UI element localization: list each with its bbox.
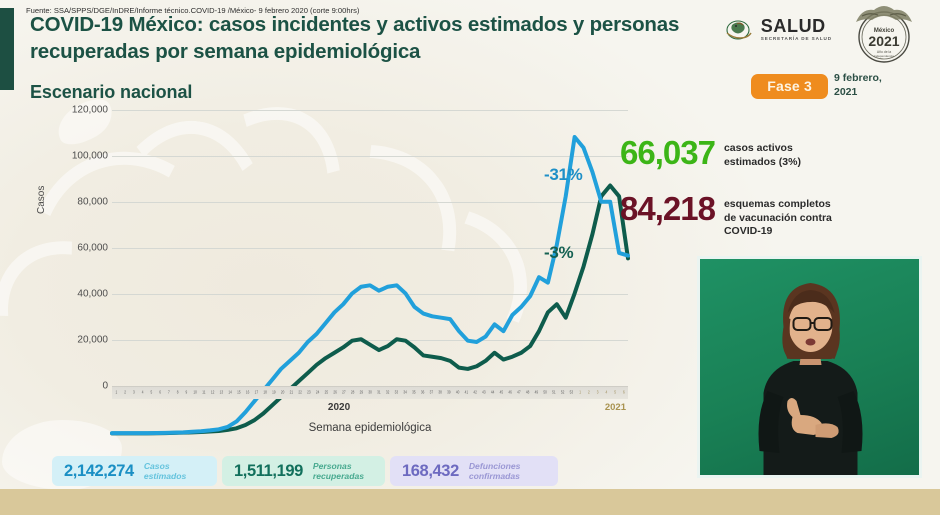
x-axis-tick-label: 26 bbox=[331, 391, 340, 396]
y-axis-tick-label: 100,000 bbox=[72, 151, 108, 162]
x-axis-tick-label: 23 bbox=[305, 391, 314, 396]
x-axis-tick-label: 8 bbox=[173, 391, 182, 396]
x-axis-tick-label: 12 bbox=[208, 391, 217, 396]
x-axis-tick-label: 50 bbox=[541, 391, 550, 396]
x-axis-tick-label: 6 bbox=[620, 391, 629, 396]
annotation-recuperadas: -3% bbox=[544, 243, 573, 263]
stat-vaccination: 84,218 esquemas completos de vacunación … bbox=[620, 194, 832, 239]
pill-defunciones-confirmadas: 168,432 Defunciones confirmadas bbox=[390, 456, 558, 486]
page-title: COVID-19 México: casos incidentes y acti… bbox=[30, 11, 690, 66]
x-axis-tick-label: 22 bbox=[296, 391, 305, 396]
pill-personas-recuperadas: 1,511,199 Personas recuperadas bbox=[222, 456, 385, 486]
x-axis-tick-label: 37 bbox=[427, 391, 436, 396]
x-axis-tick-label: 1 bbox=[112, 391, 121, 396]
pill-defunciones-value: 168,432 bbox=[402, 462, 459, 481]
x-axis-tick-label: 24 bbox=[313, 391, 322, 396]
report-date: 9 febrero, 2021 bbox=[834, 72, 922, 100]
x-axis-tick-label: 25 bbox=[322, 391, 331, 396]
phase-badge: Fase 3 bbox=[751, 74, 828, 99]
x-axis-tick-label: 18 bbox=[261, 391, 270, 396]
y-axis-tick-label: 60,000 bbox=[77, 243, 108, 254]
vaccination-value: 84,218 bbox=[620, 194, 715, 224]
svg-text:Independencia: Independencia bbox=[874, 54, 894, 58]
y-axis-tick-label: 20,000 bbox=[77, 335, 108, 346]
x-axis-tick-label: 28 bbox=[348, 391, 357, 396]
x-axis-tick-label: 46 bbox=[506, 391, 515, 396]
salud-logo-text: SALUD bbox=[761, 17, 832, 35]
x-axis-tick-label: 1 bbox=[576, 391, 585, 396]
x-axis-tick-label: 17 bbox=[252, 391, 261, 396]
x-axis-tick-label: 4 bbox=[138, 391, 147, 396]
x-axis-tick-label: 47 bbox=[515, 391, 524, 396]
source-bar bbox=[0, 489, 940, 515]
x-axis-tick-label: 48 bbox=[523, 391, 532, 396]
x-axis-tick-label: 38 bbox=[436, 391, 445, 396]
x-axis-tick-label: 5 bbox=[611, 391, 620, 396]
pill-casos-estimados: 2,142,274 Casos estimados bbox=[52, 456, 217, 486]
vaccination-label: esquemas completos de vacunación contra … bbox=[724, 194, 832, 239]
pill-casos-estimados-label: Casos estimados bbox=[144, 461, 187, 482]
mexico-2021-seal: México 2021 Año de la Independencia bbox=[848, 4, 920, 66]
x-axis-title: Semana epidemiológica bbox=[112, 422, 628, 434]
x-axis-tick-label: 6 bbox=[156, 391, 165, 396]
svg-text:2021: 2021 bbox=[868, 33, 899, 49]
active-cases-label: casos activos estimados (3%) bbox=[724, 138, 801, 169]
annotation-incidentes: -31% bbox=[544, 165, 583, 185]
x-axis-tick-label: 10 bbox=[191, 391, 200, 396]
x-axis-tick-label: 36 bbox=[418, 391, 427, 396]
sign-language-video-panel[interactable] bbox=[697, 256, 922, 478]
x-axis-tick-label: 32 bbox=[383, 391, 392, 396]
x-axis-tick-label: 42 bbox=[471, 391, 480, 396]
x-axis-tick-label: 4 bbox=[602, 391, 611, 396]
x-axis-tick-label: 31 bbox=[375, 391, 384, 396]
pill-defunciones-label: Defunciones confirmadas bbox=[469, 461, 521, 482]
stat-active-cases: 66,037 casos activos estimados (3%) bbox=[620, 138, 801, 169]
x-axis-tick-label: 30 bbox=[366, 391, 375, 396]
x-axis-tick-label: 53 bbox=[567, 391, 576, 396]
x-axis-tick-label: 41 bbox=[462, 391, 471, 396]
year-label-2021: 2021 bbox=[605, 402, 626, 413]
x-axis-tick-label: 35 bbox=[410, 391, 419, 396]
x-axis-tick-label: 11 bbox=[200, 391, 209, 396]
x-axis-tick-label: 13 bbox=[217, 391, 226, 396]
year-label-2020: 2020 bbox=[328, 402, 350, 413]
x-axis-tick-label: 9 bbox=[182, 391, 191, 396]
y-axis-tick-label: 40,000 bbox=[77, 289, 108, 300]
y-axis-tick-label: 120,000 bbox=[72, 105, 108, 116]
chart-container: Casos 120,000100,00080,00060,00040,00020… bbox=[28, 110, 628, 440]
x-axis-tick-label: 34 bbox=[401, 391, 410, 396]
active-cases-value: 66,037 bbox=[620, 138, 715, 168]
x-axis-year-row: 2020 2021 bbox=[112, 402, 628, 416]
x-axis-tick-label: 44 bbox=[488, 391, 497, 396]
page-subtitle: Escenario nacional bbox=[30, 82, 192, 103]
y-axis-tick-label: 80,000 bbox=[77, 197, 108, 208]
pill-casos-estimados-value: 2,142,274 bbox=[64, 462, 134, 481]
x-axis-tick-label: 49 bbox=[532, 391, 541, 396]
x-axis-tick-label: 29 bbox=[357, 391, 366, 396]
x-axis-tick-label: 52 bbox=[558, 391, 567, 396]
pill-personas-recuperadas-label: Personas recuperadas bbox=[313, 461, 364, 482]
x-axis-tick-label: 33 bbox=[392, 391, 401, 396]
x-axis-tick-label: 39 bbox=[445, 391, 454, 396]
interpreter-figure bbox=[697, 265, 922, 475]
x-axis-tick-label: 5 bbox=[147, 391, 156, 396]
salud-logo-subtext: SECRETARÍA DE SALUD bbox=[761, 37, 832, 42]
y-axis-tick-label: 0 bbox=[102, 381, 108, 392]
x-axis-tick-label: 7 bbox=[165, 391, 174, 396]
x-axis-tick-label: 51 bbox=[550, 391, 559, 396]
x-axis-tick-label: 16 bbox=[243, 391, 252, 396]
x-axis-tick-label: 45 bbox=[497, 391, 506, 396]
x-axis-tick-label: 2 bbox=[121, 391, 130, 396]
source-text: Fuente: SSA/SPPS/DGE/InDRE/Informe técni… bbox=[26, 6, 359, 15]
mexico-eagle-icon bbox=[724, 16, 754, 42]
x-axis-tick-label: 15 bbox=[235, 391, 244, 396]
salud-logo: SALUD SECRETARÍA DE SALUD bbox=[724, 16, 832, 42]
header-accent-bar bbox=[0, 8, 14, 90]
x-axis-tick-strip: 1234567891011121314151617181920212223242… bbox=[112, 386, 628, 399]
x-axis-tick-label: 20 bbox=[278, 391, 287, 396]
x-axis-tick-label: 3 bbox=[593, 391, 602, 396]
y-axis-ticks: 120,000100,00080,00060,00040,00020,0000 bbox=[50, 110, 108, 386]
x-axis-tick-label: 27 bbox=[340, 391, 349, 396]
x-axis-tick-label: 19 bbox=[270, 391, 279, 396]
x-axis-tick-label: 40 bbox=[453, 391, 462, 396]
y-axis-title: Casos bbox=[36, 186, 47, 214]
x-axis-tick-label: 43 bbox=[480, 391, 489, 396]
x-axis-tick-label: 3 bbox=[130, 391, 139, 396]
pill-personas-recuperadas-value: 1,511,199 bbox=[234, 462, 303, 481]
x-axis-tick-label: 21 bbox=[287, 391, 296, 396]
x-axis-tick-label: 14 bbox=[226, 391, 235, 396]
x-axis-tick-label: 2 bbox=[585, 391, 594, 396]
